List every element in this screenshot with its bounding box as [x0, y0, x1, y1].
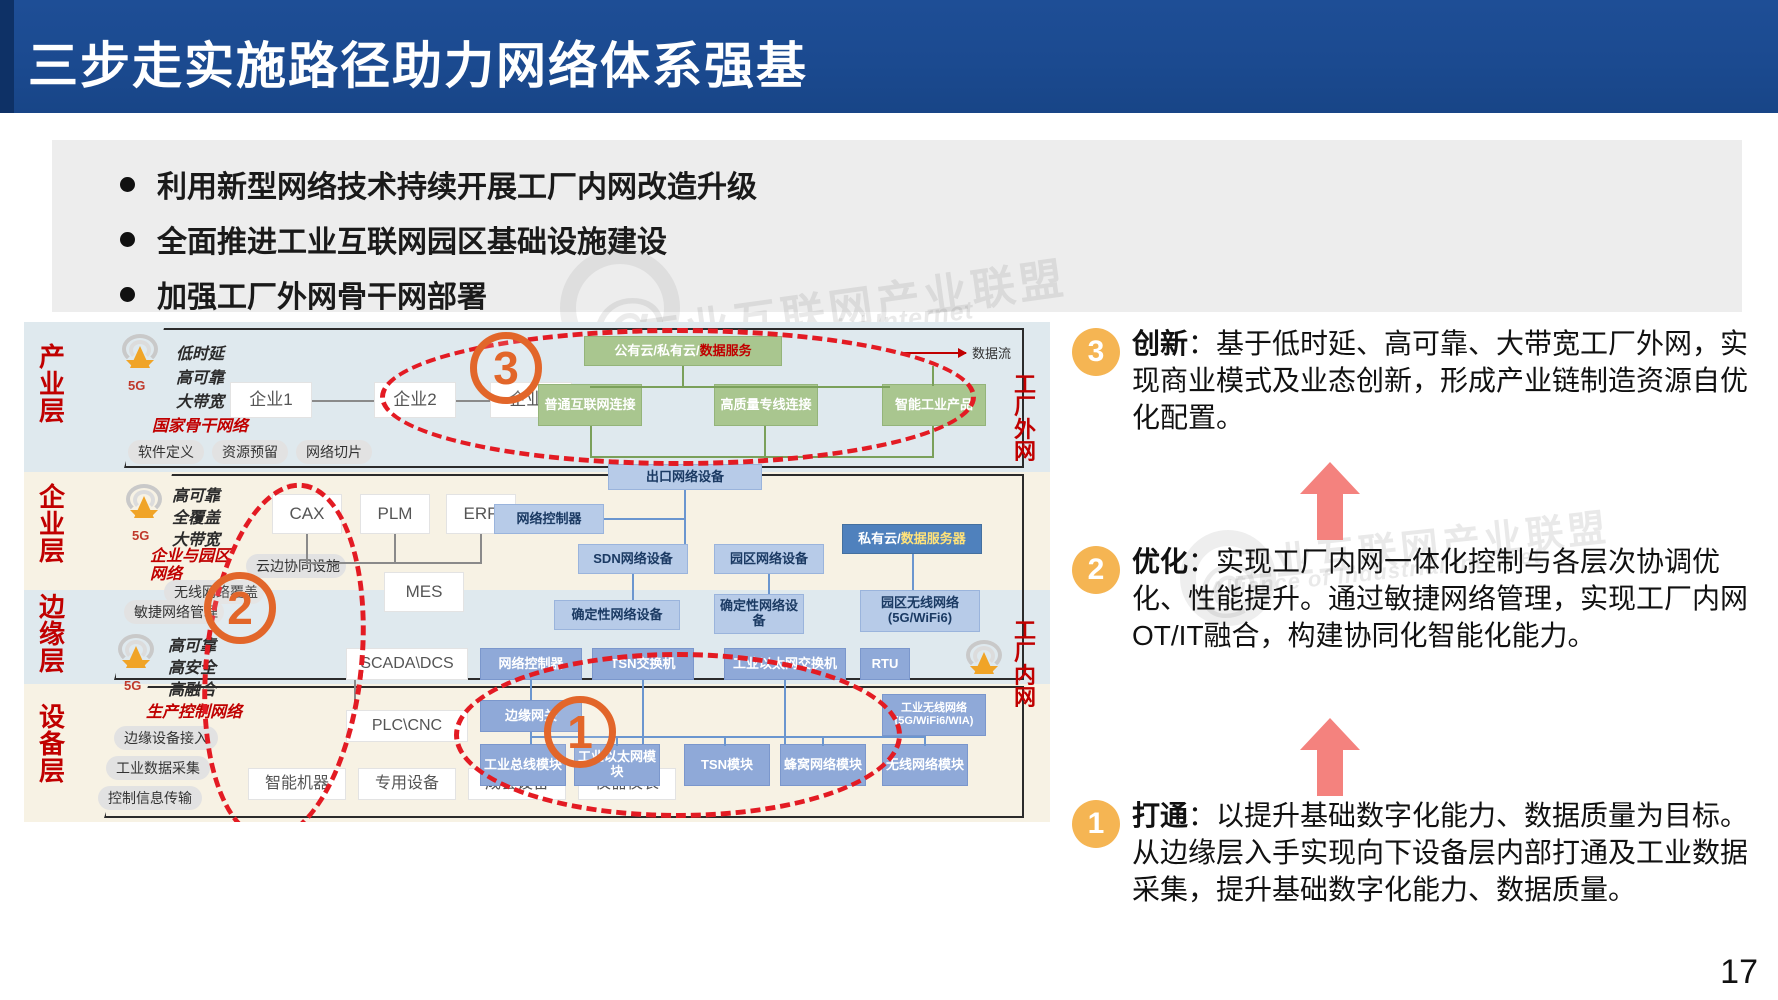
chip-software-defined: 软件定义 [128, 440, 204, 464]
chip-industrial-data-acq: 工业数据采集 [106, 756, 210, 780]
private-cloud-prefix: 私有云/ [858, 532, 901, 547]
bullet-label-3: 加强工厂外网骨干网部署 [157, 272, 487, 316]
node-mes: MES [384, 572, 464, 612]
bullet-item-3: 加强工厂外网骨干网部署 [120, 272, 487, 316]
chip-control-info-transfer: 控制信息传输 [98, 786, 202, 810]
step-item-3: 3 创新：基于低时延、高可靠、大带宽工厂外网，实现商业模式及业态创新，形成产业链… [1072, 326, 1762, 437]
tower-5g-icon [116, 634, 156, 682]
step-title-2: 优化 [1132, 546, 1188, 577]
step-text-1: 打通：以提升基础数字化能力、数据质量为目标。从边缘层入手实现向下设备层内部打通及… [1132, 798, 1762, 909]
link-line-blue [684, 490, 686, 544]
feature-ent-high-reliability: 高可靠 [172, 482, 220, 506]
data-flow-label: 数据流 [972, 343, 1011, 362]
node-enterprise-1: 企业1 [230, 382, 312, 418]
link-line-blue [768, 574, 770, 594]
bullet-panel: 利用新型网络技术持续开展工厂内网改造升级 全面推进工业互联网园区基础设施建设 加… [52, 140, 1742, 312]
bullet-dot-icon [120, 287, 135, 302]
step-body-2: ：实现工厂内网一体化控制与各层次协调优化、性能提升。通过敏捷网络管理，实现工厂内… [1132, 546, 1748, 651]
tower-5g-label: 5G [132, 528, 149, 543]
tower-5g-icon [120, 334, 160, 382]
link-line [480, 534, 482, 562]
link-line-blue [632, 574, 634, 600]
highlight-ellipse-step-3 [380, 328, 976, 466]
architecture-diagram: 产业层 企业层 边缘层 设备层 5G 5G 5G 低时延 高可靠 大带宽 国家骨… [24, 322, 1050, 822]
node-private-cloud-data-server: 私有云/数据服务器 [842, 524, 982, 554]
feature-high-reliability: 高可靠 [176, 364, 224, 388]
node-rtu: RTU [860, 648, 910, 680]
up-arrow-icon-1 [1300, 718, 1360, 796]
page-title: 三步走实施路径助力网络体系强基 [28, 26, 808, 98]
node-special-equipment: 专用设备 [358, 768, 456, 800]
up-arrow-icon-2 [1300, 462, 1360, 540]
bullet-item-2: 全面推进工业互联网园区基础设施建设 [120, 217, 667, 261]
private-cloud-highlight: 数据服务器 [901, 532, 966, 547]
step-number-badge-3: 3 [1072, 328, 1120, 376]
feature-ent-high-bandwidth: 大带宽 [172, 526, 220, 550]
link-line [312, 400, 374, 402]
chip-edge-device-access: 边缘设备接入 [114, 726, 218, 750]
step-text-3: 创新：基于低时延、高可靠、大带宽工厂外网，实现商业模式及业态创新，形成产业链制造… [1132, 326, 1762, 437]
highlight-ellipse-step-1 [454, 652, 902, 818]
layer-label-industry: 产业层 [30, 344, 74, 425]
page-number: 17 [1720, 953, 1758, 992]
feature-high-bandwidth: 大带宽 [176, 388, 224, 412]
node-plm: PLM [360, 494, 430, 534]
step-item-1: 1 打通：以提升基础数字化能力、数据质量为目标。从边缘层入手实现向下设备层内部打… [1072, 798, 1762, 909]
layer-label-enterprise: 企业层 [30, 484, 74, 565]
layer-label-device: 设备层 [30, 704, 74, 785]
bullet-dot-icon [120, 177, 135, 192]
bullet-label-1: 利用新型网络技术持续开展工厂内网改造升级 [157, 162, 757, 206]
node-deterministic-network-device-1: 确定性网络设备 [554, 600, 680, 630]
title-accent-bar [0, 0, 14, 113]
node-network-controller-ent: 网络控制器 [494, 504, 604, 534]
step-text-2: 优化：实现工厂内网一体化控制与各层次协调优化、性能提升。通过敏捷网络管理，实现工… [1132, 544, 1762, 655]
step-body-3: ：基于低时延、高可靠、大带宽工厂外网，实现商业模式及业态创新，形成产业链制造资源… [1132, 328, 1748, 433]
link-line-blue [912, 554, 914, 590]
step-number-badge-2: 2 [1072, 546, 1120, 594]
step-number-badge-1: 1 [1072, 800, 1120, 848]
chip-resource-reservation: 资源预留 [212, 440, 288, 464]
step-badge-1: 1 [544, 696, 616, 768]
bullet-dot-icon [120, 232, 135, 247]
bullet-label-2: 全面推进工业互联网园区基础设施建设 [157, 217, 667, 261]
node-egress-network-device: 出口网络设备 [608, 464, 762, 490]
tower-5g-label: 5G [124, 678, 141, 693]
side-label-factory-external: 工厂外网 [1012, 374, 1038, 464]
step-badge-2: 2 [204, 572, 276, 644]
node-plc-cnc: PLC\CNC [346, 710, 468, 742]
node-park-network-device: 园区网络设备 [714, 544, 824, 574]
bullet-item-1: 利用新型网络技术持续开展工厂内网改造升级 [120, 162, 757, 206]
chip-network-slicing: 网络切片 [296, 440, 372, 464]
feature-low-latency: 低时延 [176, 340, 224, 364]
tower-5g-icon [964, 640, 1004, 688]
step-title-1: 打通 [1132, 800, 1188, 831]
feature-ent-full-coverage: 全覆盖 [172, 504, 220, 528]
node-park-wireless-network: 园区无线网络(5G/WiFi6) [860, 590, 980, 632]
node-deterministic-network-device-2: 确定性网络设备 [714, 594, 804, 634]
side-label-factory-internal: 工厂内网 [1012, 620, 1038, 710]
link-line-blue [604, 518, 684, 520]
steps-panel: 3 创新：基于低时延、高可靠、大带宽工厂外网，实现商业模式及业态创新，形成产业链… [1072, 326, 1762, 946]
link-line-blue [924, 736, 926, 746]
layer-label-edge: 边缘层 [30, 594, 74, 675]
step-badge-3: 3 [470, 332, 542, 404]
slide-root: 三步走实施路径助力网络体系强基 利用新型网络技术持续开展工厂内网改造升级 全面推… [0, 0, 1778, 1000]
step-body-1: ：以提升基础数字化能力、数据质量为目标。从边缘层入手实现向下设备层内部打通及工业… [1132, 800, 1748, 905]
node-sdn-network-device: SDN网络设备 [578, 544, 688, 574]
tower-5g-icon [124, 484, 164, 532]
link-line [394, 534, 396, 562]
step-title-3: 创新 [1132, 328, 1188, 359]
step-item-2: 2 优化：实现工厂内网一体化控制与各层次协调优化、性能提升。通过敏捷网络管理，实… [1072, 544, 1762, 655]
tower-5g-label: 5G [128, 378, 145, 393]
title-bar: 三步走实施路径助力网络体系强基 [0, 0, 1778, 113]
